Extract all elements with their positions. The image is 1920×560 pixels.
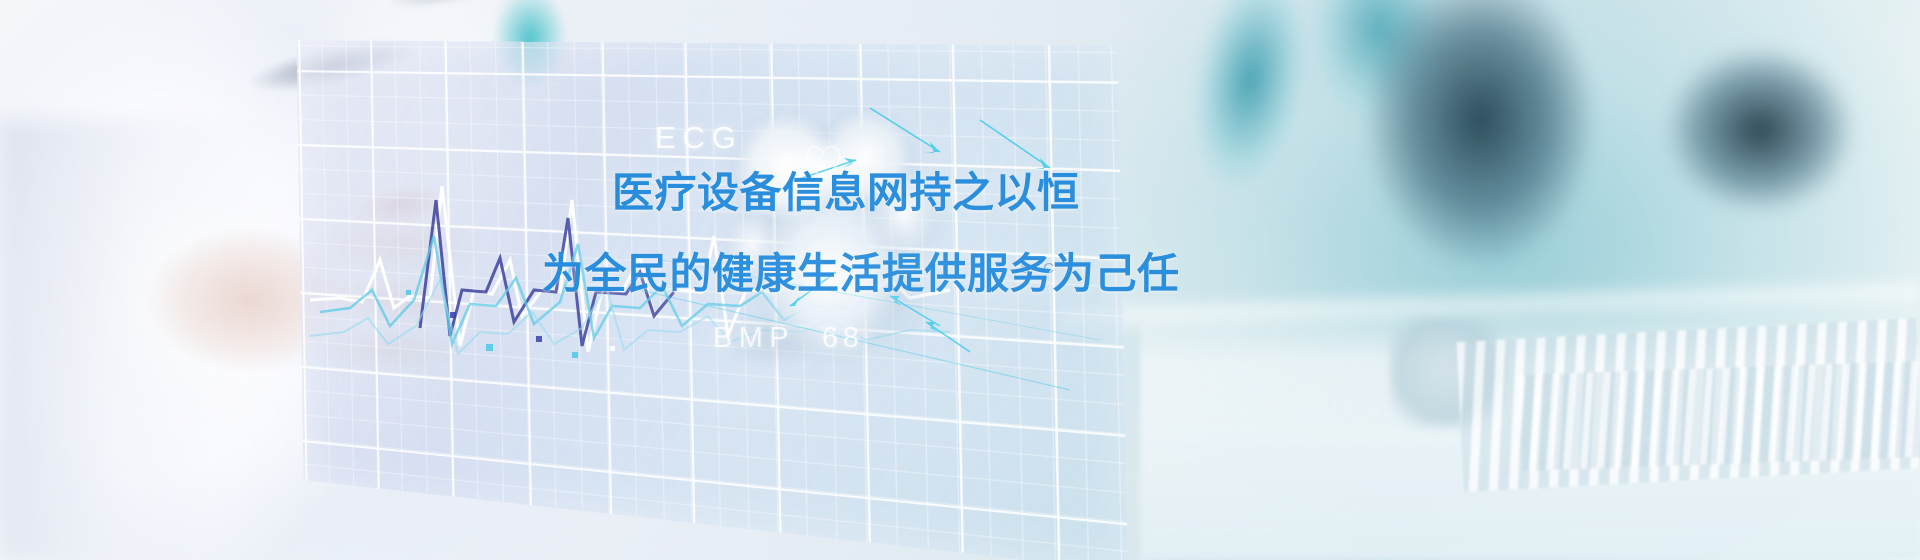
ruler-ridges-secondary — [1518, 361, 1920, 471]
bmp-label: BMP — [713, 322, 795, 355]
banner-root: ECG BMP 68 S C 医疗设备信息网持之以恒 为全民的健康生活提供服务为… — [0, 0, 1920, 560]
bmp-value: 68 — [822, 322, 864, 355]
headline-block: 医疗设备信息网持之以恒 为全民的健康生活提供服务为己任 — [612, 172, 1712, 295]
headline-line-2: 为全民的健康生活提供服务为己任 — [542, 253, 1712, 295]
ecg-label: ECG — [655, 120, 743, 156]
headline-line-1: 医疗设备信息网持之以恒 — [612, 172, 1712, 214]
